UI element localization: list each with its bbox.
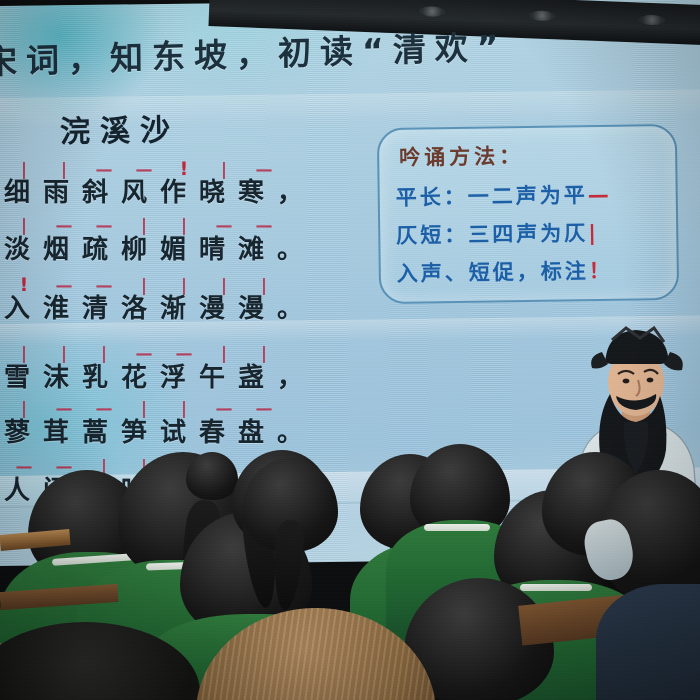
- method-row-1: 平长：一二声为平—: [396, 179, 612, 212]
- tone-mark: —: [44, 217, 84, 235]
- recitation-method-box: 吟诵方法： 平长：一二声为平— 仄短：三四声为仄| 入声、短促，标注！: [377, 124, 679, 304]
- tone-mark: |: [124, 217, 164, 235]
- tone-marks-2: |——||——: [4, 217, 316, 235]
- tone-marks-5: |——||——: [4, 400, 316, 418]
- tone-mark: |: [204, 345, 244, 363]
- tone-mark: —: [4, 458, 44, 476]
- tone-mark: |: [124, 400, 164, 418]
- poem-line-2: |——||—— 淡烟疏柳媚晴滩。: [4, 217, 316, 265]
- method-row-1-mark: —: [588, 183, 612, 207]
- student-collar-7: [520, 584, 592, 591]
- poem-text-3: 入淮清洛渐漫漫。: [4, 294, 316, 324]
- method-row-2-text: 仄短：三四声为仄: [396, 221, 588, 248]
- tone-mark: |: [204, 277, 244, 295]
- method-row-3-mark: ！: [589, 259, 613, 283]
- tone-mark: |: [4, 400, 44, 418]
- tone-mark: —: [124, 161, 164, 179]
- tone-mark: |: [124, 277, 164, 295]
- tone-mark: |: [244, 277, 284, 295]
- method-row-2: 仄短：三四声为仄|: [396, 217, 599, 250]
- tone-mark: —: [244, 161, 284, 179]
- tone-mark: —: [44, 400, 84, 418]
- tone-mark: —: [124, 345, 164, 363]
- tone-marks-3: !——||||: [4, 276, 316, 294]
- tone-mark: —: [244, 217, 284, 235]
- tone-mark: —: [204, 217, 244, 235]
- poem-line-1: ||——!|— 细雨斜风作晓寒，: [4, 160, 316, 208]
- tone-mark: —: [84, 277, 124, 295]
- tone-mark: |: [4, 345, 44, 363]
- method-row-1-text: 平长：一二声为平: [396, 183, 588, 210]
- tone-mark: —: [244, 400, 284, 418]
- tone-marks-4: |||——||: [4, 345, 316, 363]
- student-head-3b: [186, 452, 238, 500]
- poem-text-4: 雪沫乳花浮午盏，: [4, 363, 316, 393]
- poem-line-5: |——||—— 蓼茸蒿笋试春盘。: [4, 400, 316, 448]
- classroom-photo: 宋词，知东坡，初读“清欢” 浣溪沙 ||——!|— 细雨斜风作晓寒， |——||…: [0, 0, 700, 700]
- tone-mark: |: [164, 277, 204, 295]
- tone-mark: |: [204, 161, 244, 179]
- ceiling-light-3: [639, 14, 665, 25]
- tone-marks-1: ||——!|—: [4, 160, 316, 178]
- tone-mark: |: [4, 161, 44, 179]
- method-row-2-mark: |: [588, 221, 599, 245]
- tone-mark: |: [4, 217, 44, 235]
- tone-mark: —: [84, 400, 124, 418]
- tone-mark: —: [204, 400, 244, 418]
- tone-mark: !: [4, 276, 44, 294]
- ceiling-light-2: [529, 10, 555, 21]
- tone-mark: |: [84, 345, 124, 363]
- poem-title: 浣溪沙: [60, 105, 181, 151]
- ceiling-light-1: [419, 6, 445, 17]
- tone-mark: !: [164, 160, 204, 178]
- tone-mark: —: [164, 345, 204, 363]
- student-collar-6: [424, 524, 490, 531]
- tone-mark: —: [84, 217, 124, 235]
- tone-mark: —: [44, 277, 84, 295]
- poem-line-3: !——|||| 入淮清洛渐漫漫。: [4, 276, 316, 324]
- poem-text-2: 淡烟疏柳媚晴滩。: [4, 235, 316, 265]
- tone-mark: |: [44, 345, 84, 363]
- tone-mark: |: [164, 217, 204, 235]
- method-row-3-text: 入声、短促，标注: [397, 259, 589, 286]
- tone-mark: —: [84, 161, 124, 179]
- poem-text-1: 细雨斜风作晓寒，: [4, 178, 316, 208]
- tone-mark: |: [164, 400, 204, 418]
- tone-mark: |: [244, 345, 284, 363]
- poem-text-5: 蓼茸蒿笋试春盘。: [4, 418, 316, 448]
- tone-mark: |: [44, 161, 84, 179]
- method-row-3: 入声、短促，标注！: [397, 255, 613, 288]
- poem-line-4: |||——|| 雪沫乳花浮午盏，: [4, 345, 316, 393]
- method-box-title: 吟诵方法：: [399, 140, 524, 172]
